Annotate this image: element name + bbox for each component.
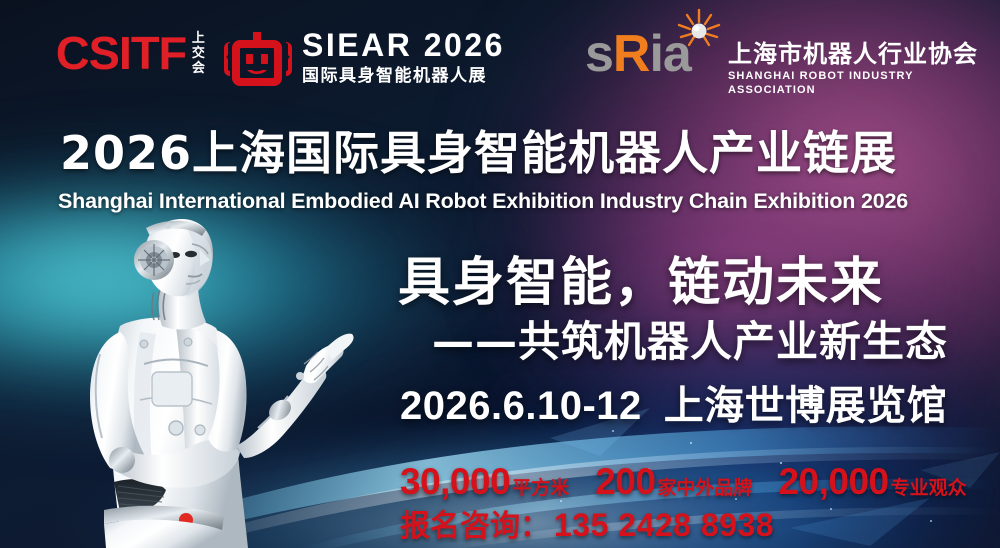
stat-number: 200: [595, 463, 655, 501]
slogan-line-2: ——共筑机器人产业新生态: [432, 316, 948, 368]
humanoid-robot-figure: [48, 214, 358, 548]
csitf-cn-char-2: 交: [192, 46, 205, 61]
event-date: 2026.6.10-12: [400, 384, 642, 428]
page-title-english: Shanghai International Embodied AI Robot…: [58, 188, 968, 214]
csitf-cn-char-1: 上: [192, 31, 205, 46]
robot-face-bracket-icon: [224, 32, 292, 94]
siear-wordmark: SIEAR 2026: [302, 28, 505, 62]
page-title-chinese: 2026上海国际具身智能机器人产业链展: [60, 125, 960, 181]
date-venue-line: 2026.6.10-12上海世博展览馆: [400, 382, 947, 430]
sria-wordmark: sRia: [585, 28, 691, 80]
stat-item: 30,000 平方米: [400, 463, 569, 501]
csitf-chinese-label: 上 交 会: [192, 31, 205, 76]
stat-item: 20,000 专业观众: [778, 463, 966, 501]
sria-association-name: 上海市机器人行业协会 SHANGHAI ROBOT INDUSTRY ASSOC…: [728, 40, 1000, 97]
csitf-wordmark: CSITF: [56, 30, 186, 76]
stat-number: 30,000: [400, 463, 510, 501]
sria-wordmark-accent: R: [613, 25, 650, 83]
sria-chinese-name: 上海市机器人行业协会: [728, 40, 1000, 68]
sria-wordmark-pre: s: [585, 25, 613, 83]
stats-row: 30,000 平方米 200 家中外品牌 20,000 专业观众: [400, 463, 967, 501]
starburst-sphere-icon: [671, 6, 727, 50]
logo-sria[interactable]: sRia: [585, 28, 691, 80]
contact-row[interactable]: 报名咨询： 135 2428 8938: [400, 508, 774, 544]
slogan-line-1: 具身智能，链动未来: [398, 252, 884, 314]
siear-chinese-subtitle: 国际具身智能机器人展: [302, 65, 505, 87]
header-logo-bar: CSITF 上 交 会 SIEAR 2026 国际具身智能机器人展: [0, 0, 1000, 118]
stat-unit: 平方米: [512, 478, 569, 498]
sria-english-name: SHANGHAI ROBOT INDUSTRY ASSOCIATION: [728, 69, 1000, 97]
contact-phone-number[interactable]: 135 2428 8938: [554, 508, 774, 542]
logo-siear[interactable]: SIEAR 2026 国际具身智能机器人展: [302, 28, 505, 87]
stat-unit: 家中外品牌: [657, 478, 752, 498]
csitf-cn-char-3: 会: [192, 61, 205, 76]
logo-csitf[interactable]: CSITF 上 交 会: [57, 30, 205, 76]
exhibition-poster: CSITF 上 交 会 SIEAR 2026 国际具身智能机器人展: [0, 0, 1000, 548]
stat-item: 200 家中外品牌: [595, 463, 752, 501]
event-venue: 上海世博展览馆: [664, 383, 948, 429]
contact-label: 报名咨询：: [400, 510, 550, 544]
stat-number: 20,000: [778, 463, 888, 501]
stat-unit: 专业观众: [891, 478, 967, 498]
